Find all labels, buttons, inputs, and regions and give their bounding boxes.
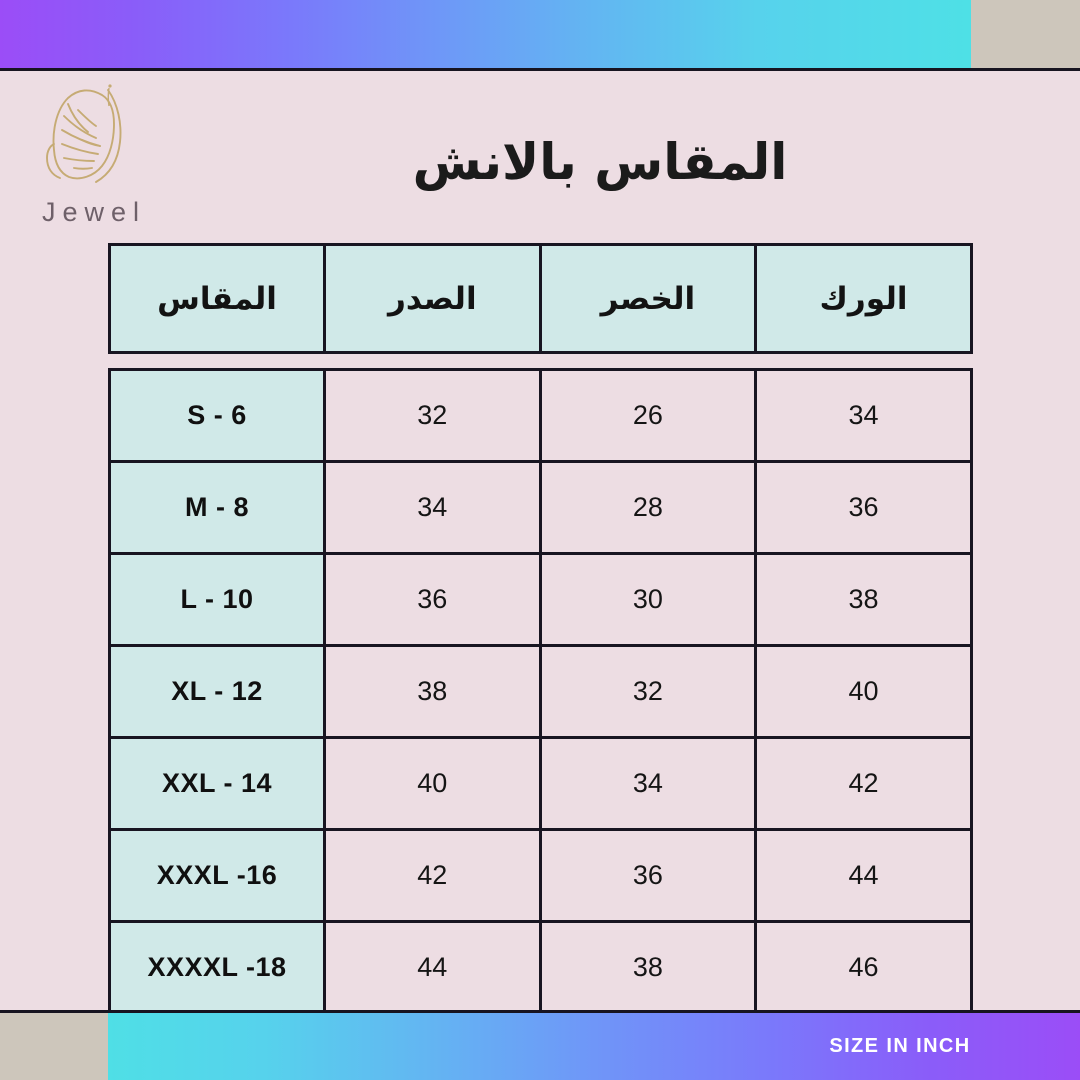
cell-hip: 44 — [756, 830, 972, 922]
column-header-size: المقاس — [110, 245, 325, 353]
cell-size: L - 10 — [110, 554, 325, 646]
cell-hip: 34 — [756, 370, 972, 462]
table-header-row: المقاس الصدر الخصر الورك — [110, 245, 972, 353]
size-chart-header-table: المقاس الصدر الخصر الورك — [108, 243, 973, 354]
cell-chest: 44 — [325, 922, 541, 1014]
cell-chest: 32 — [325, 370, 541, 462]
cell-hip: 46 — [756, 922, 972, 1014]
cell-chest: 38 — [325, 646, 541, 738]
table-row: XL - 12 38 32 40 — [110, 646, 972, 738]
cell-hip: 42 — [756, 738, 972, 830]
table-row: XXXL -16 42 36 44 — [110, 830, 972, 922]
table-row: XXL - 14 40 34 42 — [110, 738, 972, 830]
cell-size: XL - 12 — [110, 646, 325, 738]
brand-logo: Jewel — [28, 80, 178, 228]
cell-waist: 34 — [540, 738, 756, 830]
footer-caption: SIZE IN INCH — [790, 1013, 1010, 1080]
top-divider-rule — [0, 68, 1080, 71]
page-title: المقاس بالانش — [220, 133, 980, 191]
cell-size: XXL - 14 — [110, 738, 325, 830]
cell-waist: 26 — [540, 370, 756, 462]
logo-dot-icon — [108, 84, 111, 87]
column-header-hip: الورك — [756, 245, 972, 353]
cell-hip: 38 — [756, 554, 972, 646]
top-band — [0, 0, 1080, 68]
top-band-gradient — [0, 0, 971, 68]
size-chart-body-table: S - 6 32 26 34 M - 8 34 28 36 L - 10 36 … — [108, 368, 973, 1015]
cell-size: XXXXL -18 — [110, 922, 325, 1014]
column-header-waist: الخصر — [540, 245, 756, 353]
table-row: M - 8 34 28 36 — [110, 462, 972, 554]
table-row: XXXXL -18 44 38 46 — [110, 922, 972, 1014]
cell-size: S - 6 — [110, 370, 325, 462]
brand-name: Jewel — [42, 197, 178, 228]
cell-waist: 30 — [540, 554, 756, 646]
cell-waist: 38 — [540, 922, 756, 1014]
cell-size: M - 8 — [110, 462, 325, 554]
cell-chest: 36 — [325, 554, 541, 646]
cell-chest: 40 — [325, 738, 541, 830]
size-chart-page: Jewel المقاس بالانش المقاس الصدر الخصر ا… — [0, 0, 1080, 1080]
cell-size: XXXL -16 — [110, 830, 325, 922]
table-row: L - 10 36 30 38 — [110, 554, 972, 646]
column-header-chest: الصدر — [325, 245, 541, 353]
cell-waist: 32 — [540, 646, 756, 738]
cell-waist: 36 — [540, 830, 756, 922]
butterfly-wing-icon — [38, 80, 138, 190]
cell-chest: 34 — [325, 462, 541, 554]
table-row: S - 6 32 26 34 — [110, 370, 972, 462]
cell-waist: 28 — [540, 462, 756, 554]
cell-hip: 40 — [756, 646, 972, 738]
cell-chest: 42 — [325, 830, 541, 922]
cell-hip: 36 — [756, 462, 972, 554]
